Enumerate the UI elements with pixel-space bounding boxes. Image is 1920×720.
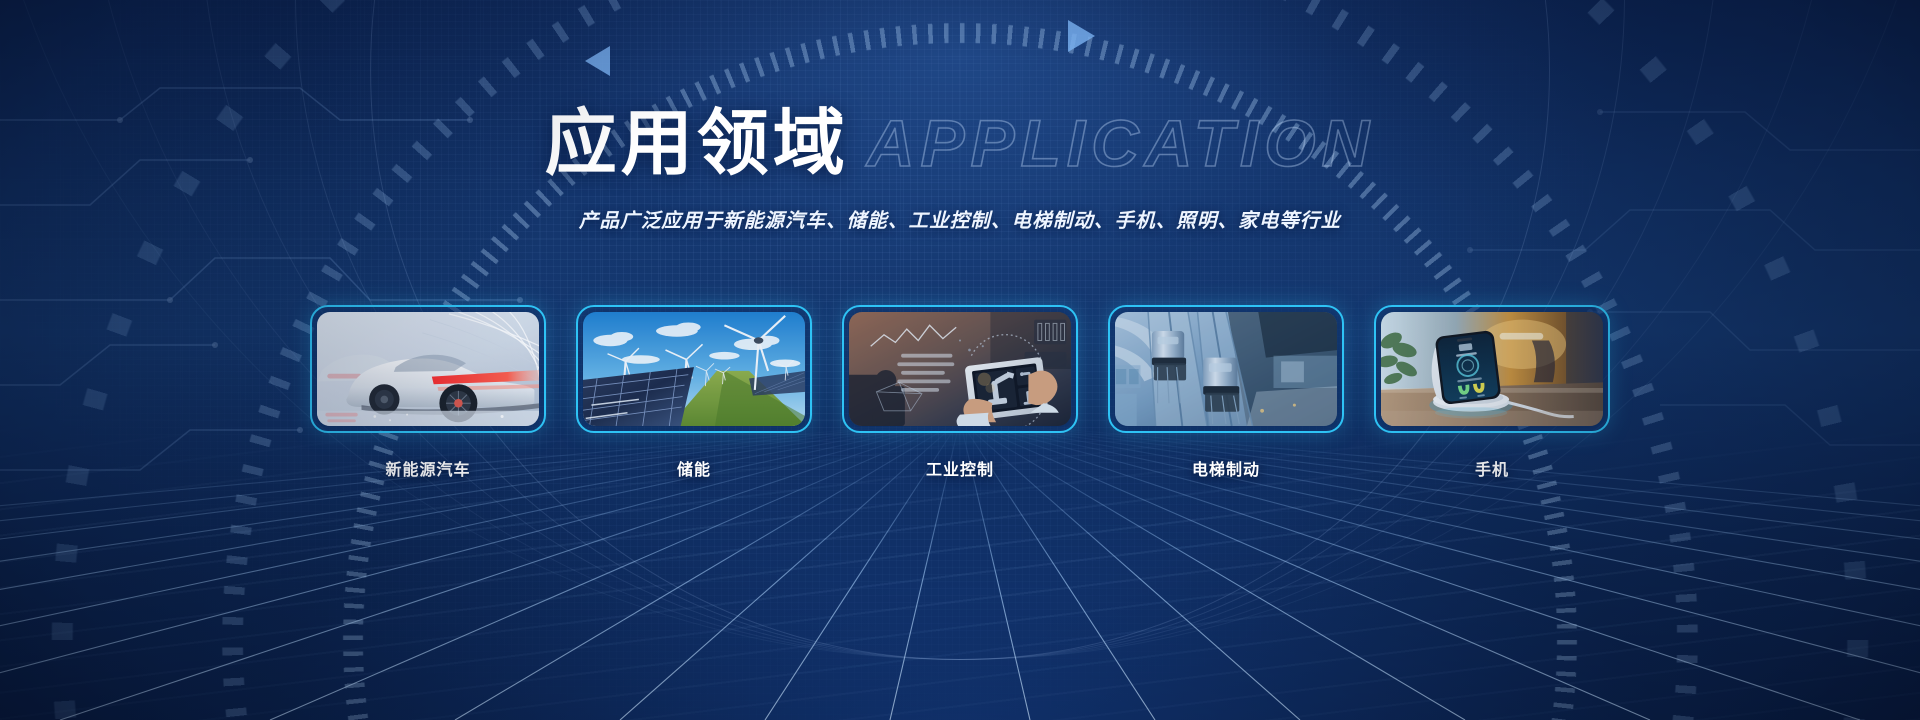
application-card-mobile-phone[interactable]: 手机 (1374, 305, 1610, 480)
page-subtitle: 产品广泛应用于新能源汽车、储能、工业控制、电梯制动、手机、照明、家电等行业 (0, 204, 1920, 233)
application-card-new-energy-vehicle[interactable]: 新能源汽车 (310, 305, 546, 480)
page-title-english: APPLICATION (867, 110, 1375, 176)
card-image-mobile-phone (1381, 312, 1603, 426)
card-frame (1374, 305, 1610, 433)
card-frame (576, 305, 812, 433)
card-label: 工业控制 (842, 456, 1078, 480)
decorative-triangle-right (1068, 20, 1095, 52)
card-label: 储能 (576, 456, 812, 480)
application-card-elevator-brake[interactable]: 电梯制动 (1108, 305, 1344, 480)
application-banner: 应用领域 APPLICATION 产品广泛应用于新能源汽车、储能、工业控制、电梯… (0, 0, 1920, 720)
card-image-elevator-brake (1115, 312, 1337, 426)
card-label: 手机 (1374, 456, 1610, 480)
card-image-energy-storage (583, 312, 805, 426)
application-card-industrial-control[interactable]: 工业控制 (842, 305, 1078, 480)
title-line: 应用领域 APPLICATION (545, 108, 1375, 180)
card-label: 新能源汽车 (310, 456, 546, 480)
card-image-new-energy-vehicle (317, 312, 539, 426)
card-frame (310, 305, 546, 433)
card-image-industrial-control (849, 312, 1071, 426)
application-card-energy-storage[interactable]: 储能 (576, 305, 812, 480)
card-frame (1108, 305, 1344, 433)
banner-header: 应用领域 APPLICATION 产品广泛应用于新能源汽车、储能、工业控制、电梯… (0, 108, 1920, 233)
page-title: 应用领域 (545, 108, 849, 180)
application-card-list: 新能源汽车 (0, 305, 1920, 480)
card-frame (842, 305, 1078, 433)
decorative-triangle-left (585, 46, 610, 76)
card-label: 电梯制动 (1108, 456, 1344, 480)
